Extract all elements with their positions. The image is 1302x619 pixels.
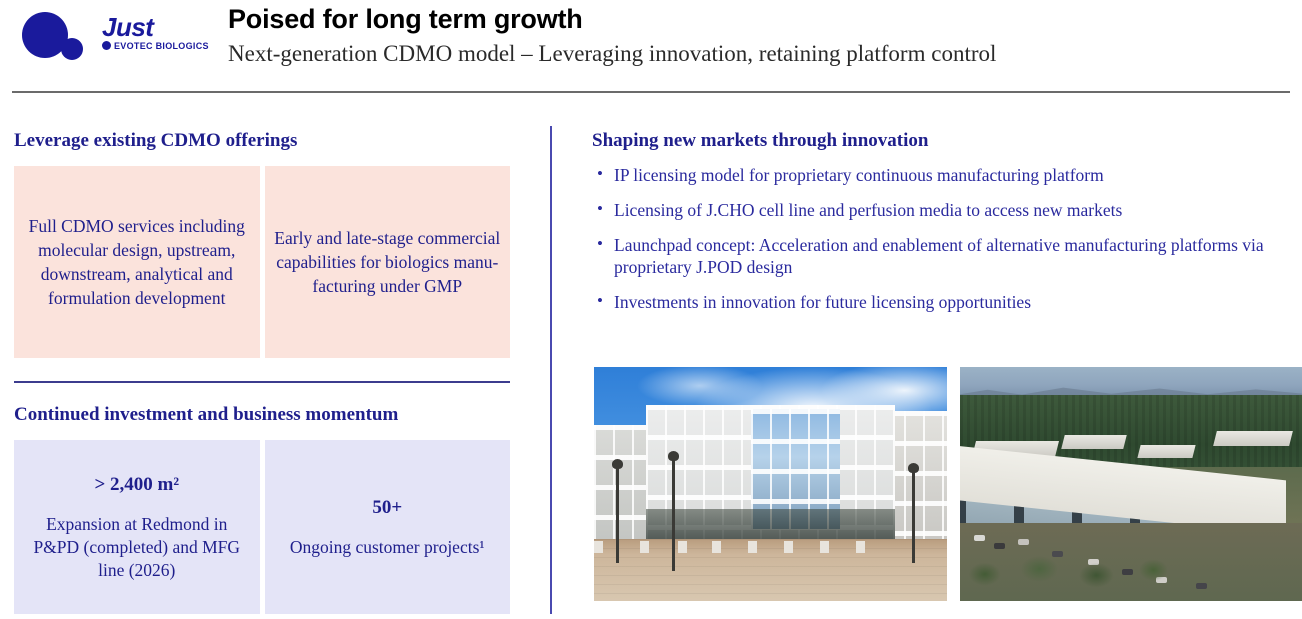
card-stat: > 2,400 m² [94, 473, 179, 497]
photo-foreground-trees [960, 543, 1208, 595]
card-text: Expansion at Redmond in P&PD (completed)… [22, 513, 252, 582]
photo-car [974, 535, 985, 541]
photo-building [1213, 431, 1292, 446]
photo-office-building [594, 367, 947, 601]
right-column: Shaping new markets through innovation I… [592, 0, 1302, 619]
photo-bollard [784, 541, 793, 553]
card-text: Ongoing customer projects¹ [290, 536, 485, 559]
card-text: Full CDMO services including molecular d… [22, 214, 252, 310]
section-heading-leverage-cdmo: Leverage existing CDMO offerings [14, 130, 297, 152]
photo-ground-floor [646, 509, 895, 539]
photo-aerial-facility: J.POD [960, 367, 1302, 601]
card-ongoing-projects: 50+ Ongoing customer projects¹ [265, 440, 511, 614]
innovation-bullet-list: IP licensing model for proprietary conti… [592, 164, 1298, 326]
photo-building [1061, 435, 1126, 449]
photo-bollard [748, 541, 757, 553]
photo-bollard [712, 541, 721, 553]
photo-bollard [856, 541, 865, 553]
card-commercial-capabilities: Early and late-stage commercial capabili… [265, 166, 511, 358]
card-stat: 50+ [372, 496, 402, 520]
left-column-divider [14, 381, 510, 383]
photo-street-lamp [616, 467, 619, 563]
card-full-cdmo-services: Full CDMO services including molecular d… [14, 166, 260, 358]
photo-street-lamp [912, 471, 915, 563]
investment-card-row: > 2,400 m² Expansion at Redmond in P&PD … [14, 440, 510, 614]
list-item: Launchpad concept: Acceleration and enab… [592, 234, 1298, 278]
card-redmond-expansion: > 2,400 m² Expansion at Redmond in P&PD … [14, 440, 260, 614]
left-column: Leverage existing CDMO offerings Full CD… [0, 0, 540, 619]
photo-bollard [594, 541, 603, 553]
cdmo-offerings-card-row: Full CDMO services including molecular d… [14, 166, 510, 358]
column-divider [550, 126, 552, 614]
section-heading-shaping-new-markets: Shaping new markets through innovation [592, 130, 928, 152]
photo-bollard [820, 541, 829, 553]
list-item: IP licensing model for proprietary conti… [592, 164, 1298, 186]
card-text: Early and late-stage commercial capabili… [273, 226, 503, 298]
list-item: Investments in innovation for future lic… [592, 291, 1298, 313]
facility-photo-row: J.POD [594, 367, 1302, 601]
list-item: Licensing of J.CHO cell line and perfusi… [592, 199, 1298, 221]
photo-window-grid [594, 425, 652, 539]
photo-bollard [640, 541, 649, 553]
photo-street-lamp [672, 459, 675, 571]
section-heading-continued-investment: Continued investment and business moment… [14, 404, 398, 426]
photo-bollard [678, 541, 687, 553]
photo-building [1137, 445, 1195, 458]
photo-building-left [594, 425, 652, 539]
